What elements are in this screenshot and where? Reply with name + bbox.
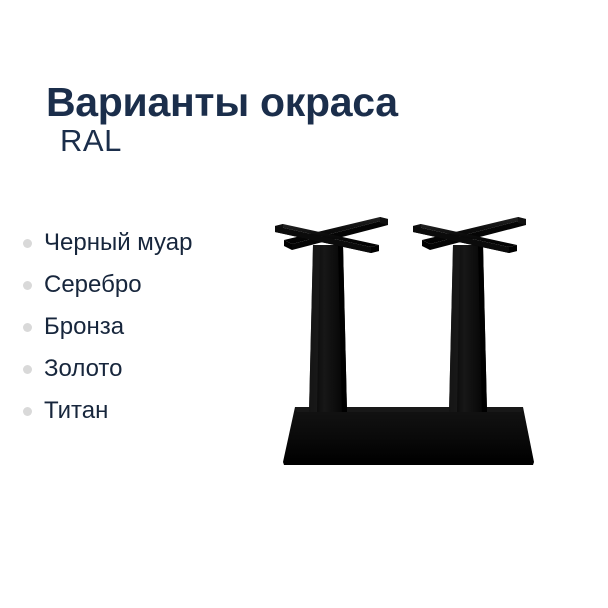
- base-plate: [283, 407, 534, 465]
- option-label: Титан: [44, 399, 108, 423]
- color-options-list: Черный муар Серебро Бронза Золото Титан: [18, 222, 268, 432]
- list-item[interactable]: Золото: [18, 348, 268, 390]
- option-label: Серебро: [44, 273, 142, 297]
- list-item[interactable]: Черный муар: [18, 222, 268, 264]
- bullet-icon: [23, 281, 32, 290]
- list-item[interactable]: Титан: [18, 390, 268, 432]
- page-title: Варианты окраса: [46, 81, 398, 124]
- option-label: Черный муар: [44, 231, 192, 255]
- option-label: Золото: [44, 357, 122, 381]
- list-item[interactable]: Серебро: [18, 264, 268, 306]
- column-right: [449, 245, 487, 412]
- page-root: Варианты окраса RAL Черный муар Серебро …: [0, 0, 608, 608]
- column-left: [309, 245, 347, 412]
- option-label: Бронза: [44, 315, 124, 339]
- list-item[interactable]: Бронза: [18, 306, 268, 348]
- bullet-icon: [23, 239, 32, 248]
- bullet-icon: [23, 365, 32, 374]
- page-subtitle-ral: RAL: [60, 124, 122, 158]
- bullet-icon: [23, 323, 32, 332]
- bullet-icon: [23, 407, 32, 416]
- product-image-table-base: [262, 200, 552, 480]
